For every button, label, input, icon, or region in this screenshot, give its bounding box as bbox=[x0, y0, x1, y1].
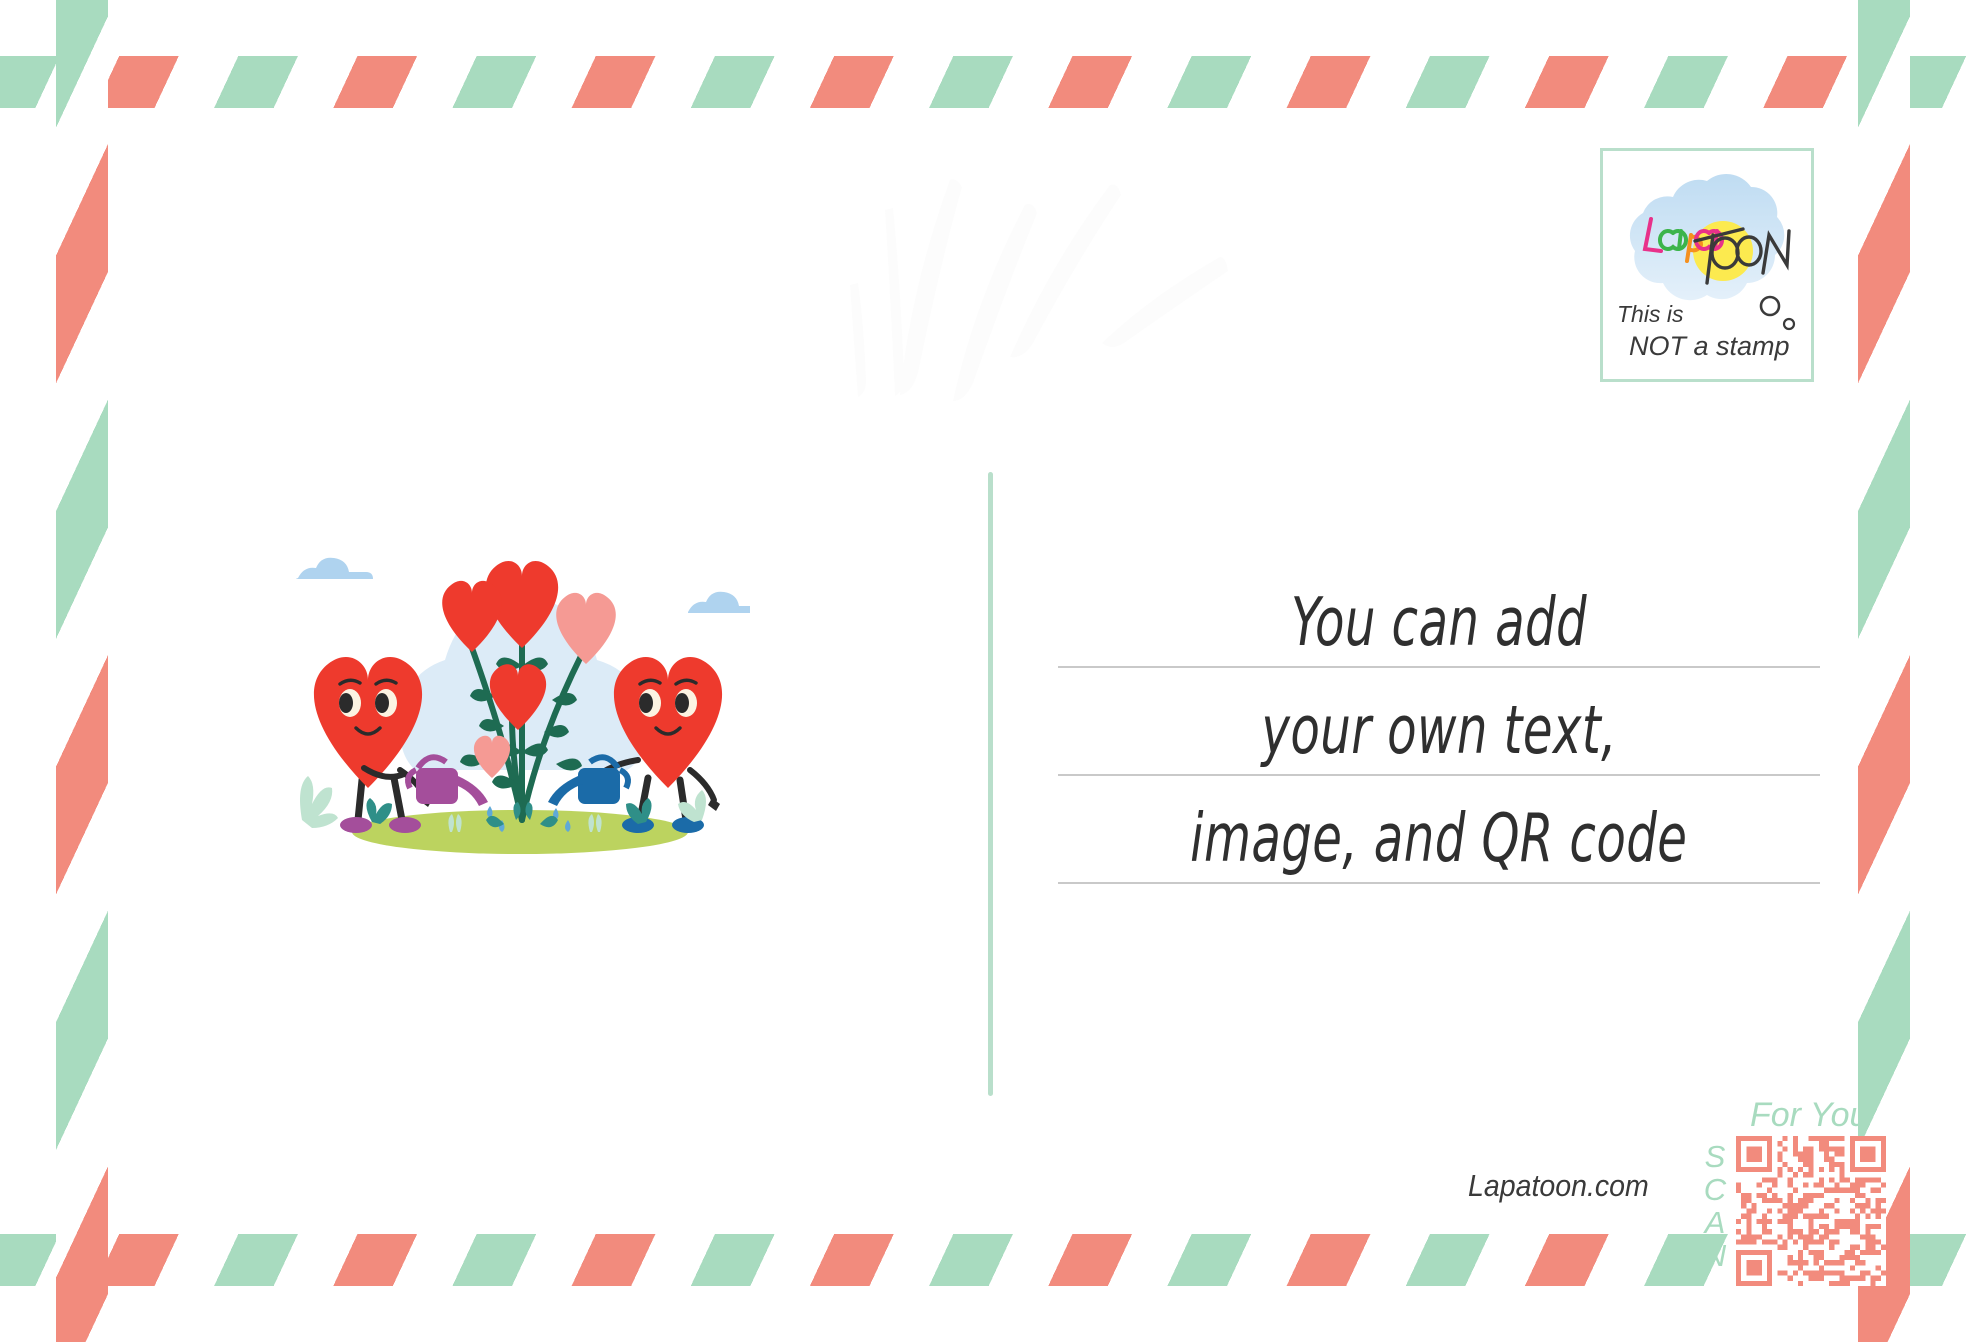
border-stripe-top bbox=[0, 56, 1966, 108]
message-text-3: image, and QR code bbox=[1190, 805, 1687, 882]
scan-letter-a: A bbox=[1705, 1206, 1726, 1239]
message-divider bbox=[988, 472, 993, 1096]
scan-letter-s: S bbox=[1705, 1140, 1726, 1173]
postcard: This is NOT a stamp bbox=[0, 0, 1966, 1342]
message-line-3[interactable]: image, and QR code bbox=[1058, 776, 1820, 884]
scan-letter-n: N bbox=[1704, 1239, 1726, 1272]
qr-block[interactable]: For You S C A N bbox=[1694, 1096, 1904, 1296]
message-line-2[interactable]: your own text, bbox=[1058, 668, 1820, 776]
bubble-small bbox=[1784, 319, 1794, 329]
message-line-1[interactable]: You can add bbox=[1058, 560, 1820, 668]
stamp-label-line2: NOT a stamp bbox=[1629, 331, 1790, 362]
border-stripe-bottom bbox=[0, 1234, 1966, 1286]
site-url[interactable]: Lapatoon.com bbox=[1468, 1168, 1649, 1204]
scan-label: S C A N bbox=[1698, 1140, 1732, 1273]
stamp-box: This is NOT a stamp bbox=[1600, 148, 1814, 382]
for-you-label: For You bbox=[1750, 1096, 1868, 1135]
scan-letter-c: C bbox=[1704, 1173, 1726, 1206]
qr-code[interactable] bbox=[1736, 1136, 1886, 1286]
hearts-garden-illustration bbox=[290, 520, 750, 860]
bubble-large bbox=[1761, 297, 1779, 315]
message-text-2: your own text, bbox=[1261, 697, 1616, 774]
message-area[interactable]: You can add your own text, image, and QR… bbox=[1058, 560, 1820, 880]
stamp-label-line1: This is bbox=[1617, 301, 1683, 328]
message-text-1: You can add bbox=[1291, 589, 1587, 666]
border-stripe-left bbox=[56, 0, 108, 1342]
